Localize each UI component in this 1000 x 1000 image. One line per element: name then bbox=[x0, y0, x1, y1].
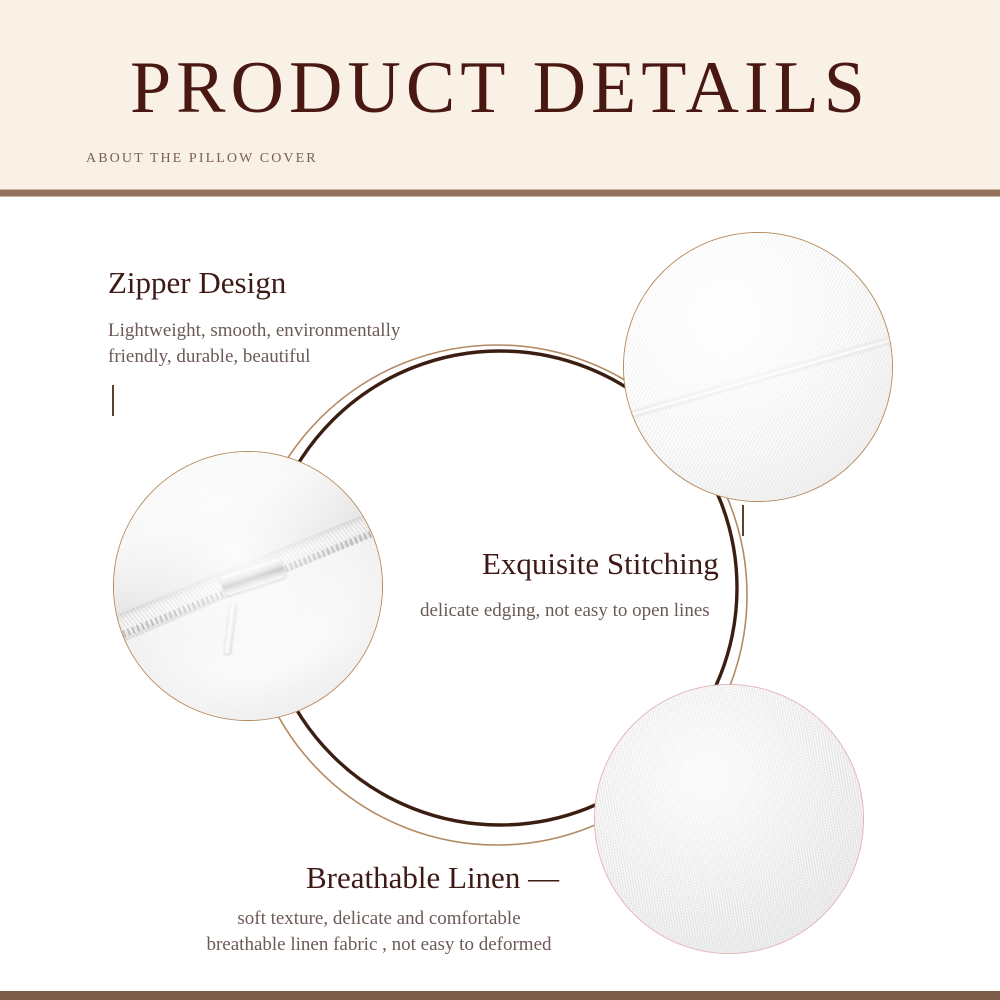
page-subtitle: ABOUT THE PILLOW COVER bbox=[86, 150, 318, 168]
feature-description-line: soft texture, delicate and comfortable bbox=[184, 906, 574, 932]
feature-description-breathable-linen: soft texture, delicate and comfortable b… bbox=[184, 906, 574, 958]
linen-fabric-closeup-photo bbox=[594, 684, 864, 954]
photo-shading bbox=[624, 233, 892, 501]
photo-inner bbox=[624, 233, 892, 501]
photo-shading bbox=[114, 452, 382, 720]
feature-description-line: delicate edging, not easy to open lines bbox=[420, 598, 710, 624]
photo-shading bbox=[595, 685, 863, 953]
feature-description-line: friendly, durable, beautiful bbox=[108, 344, 400, 370]
product-details-infographic: PRODUCT DETAILS ABOUT THE PILLOW COVER bbox=[0, 0, 1000, 1000]
feature-title-exquisite-stitching: Exquisite Stitching bbox=[482, 545, 719, 583]
accent-tick-mark-zipper bbox=[112, 385, 114, 416]
header-band: PRODUCT DETAILS ABOUT THE PILLOW COVER bbox=[0, 0, 1000, 189]
accent-tick-mark-stitching bbox=[742, 505, 744, 536]
photo-inner bbox=[595, 685, 863, 953]
feature-description-line: Lightweight, smooth, environmentally bbox=[108, 318, 400, 344]
header-divider-rule bbox=[0, 189, 1000, 197]
photo-inner bbox=[114, 452, 382, 720]
feature-description-line: breathable linen fabric , not easy to de… bbox=[184, 932, 574, 958]
seam-stitching-closeup-photo bbox=[623, 232, 893, 502]
feature-description-zipper-design: Lightweight, smooth, environmentally fri… bbox=[108, 318, 400, 370]
feature-description-exquisite-stitching: delicate edging, not easy to open lines bbox=[420, 598, 710, 624]
feature-title-breathable-linen: Breathable Linen — bbox=[306, 859, 559, 897]
feature-title-zipper-design: Zipper Design bbox=[108, 264, 286, 302]
page-title: PRODUCT DETAILS bbox=[0, 48, 1000, 128]
zipper-closeup-photo bbox=[113, 451, 383, 721]
footer-divider-rule bbox=[0, 991, 1000, 1000]
